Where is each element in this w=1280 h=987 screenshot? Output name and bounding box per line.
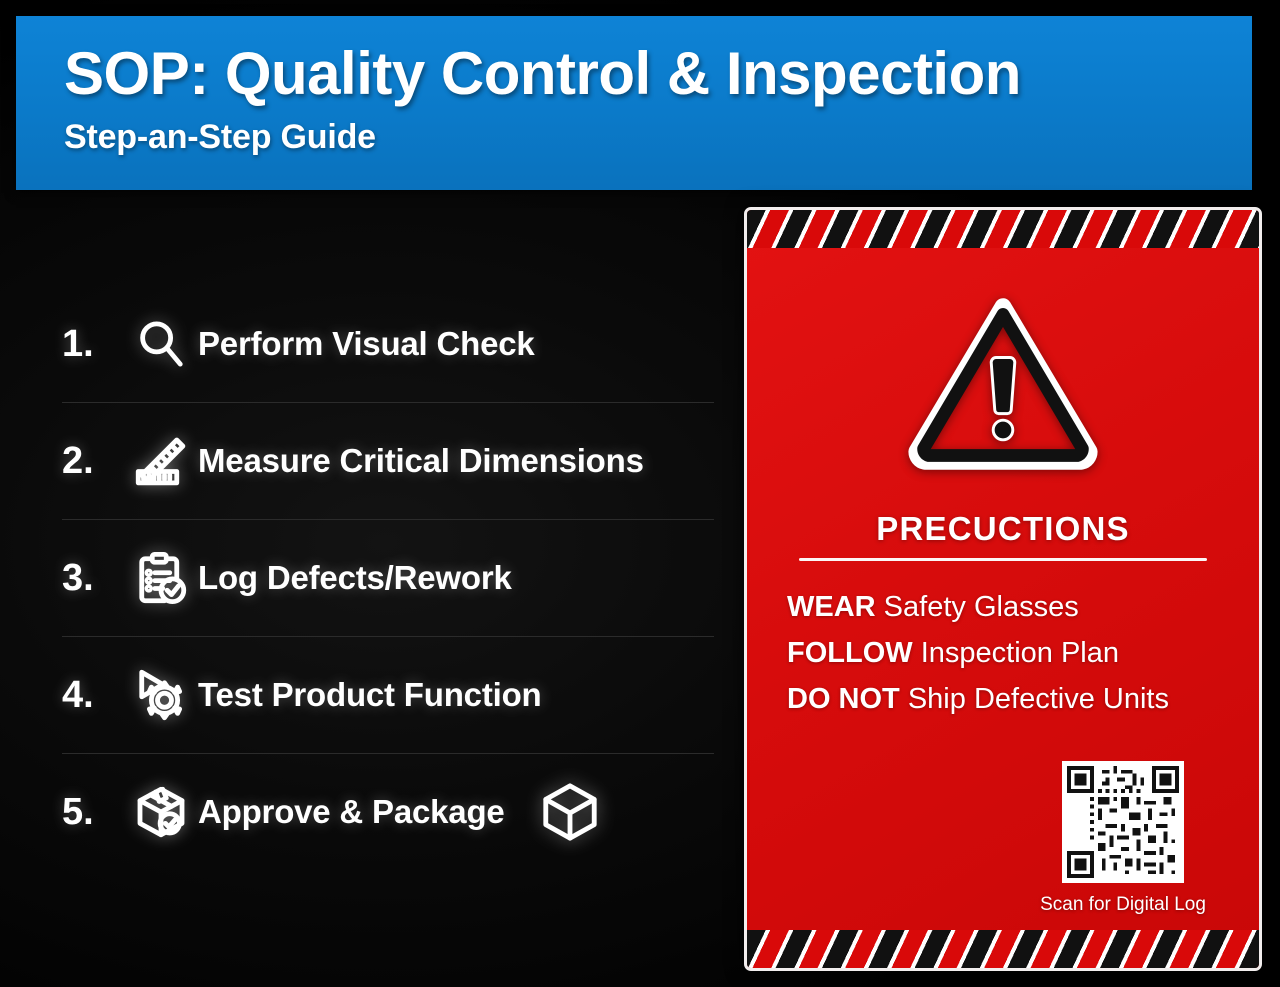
precautions-panel: PRECUCTIONS WEAR Safety Glasses FOLLOW I… <box>744 207 1262 971</box>
hazard-stripe-bottom <box>747 930 1259 968</box>
header-banner: SOP: Quality Control & Inspection Step-a… <box>16 16 1252 190</box>
step-label: Perform Visual Check <box>198 325 535 363</box>
clipboard-check-icon <box>124 550 198 606</box>
step-row[interactable]: 4. Test Product Function <box>62 637 714 754</box>
step-number: 5. <box>62 791 124 834</box>
step-number: 3. <box>62 557 124 600</box>
steps-list: 1. Perform Visual Check 2. <box>62 286 714 870</box>
panel-heading: PRECUCTIONS <box>747 510 1259 548</box>
step-row[interactable]: 3. Log Defects/Rework <box>62 520 714 637</box>
page-subtitle: Step-an-Step Guide <box>64 118 376 157</box>
play-gear-icon <box>124 667 198 723</box>
box-check-icon <box>124 784 198 840</box>
cube-outline-icon <box>539 781 601 843</box>
step-number: 2. <box>62 440 124 483</box>
step-row[interactable]: 2. Measure Critical <box>62 403 714 520</box>
panel-divider <box>799 558 1207 561</box>
precaution-text: Ship Defective Units <box>900 683 1169 715</box>
ruler-icon <box>124 433 198 489</box>
precaution-item: DO NOT Ship Defective Units <box>787 676 1227 722</box>
step-label: Measure Critical Dimensions <box>198 442 644 480</box>
page-title: SOP: Quality Control & Inspection <box>64 42 1021 105</box>
step-number: 1. <box>62 323 124 366</box>
step-number: 4. <box>62 674 124 717</box>
precaution-text: Inspection Plan <box>913 637 1119 669</box>
precaution-item: FOLLOW Inspection Plan <box>787 630 1227 676</box>
precaution-emphasis: WEAR <box>787 591 876 623</box>
precaution-item: WEAR Safety Glasses <box>787 584 1227 630</box>
step-row[interactable]: 1. Perform Visual Check <box>62 286 714 403</box>
precaution-text: Safety Glasses <box>876 591 1079 623</box>
precaution-list: WEAR Safety Glasses FOLLOW Inspection Pl… <box>787 584 1227 722</box>
sop-infographic-poster: SOP: Quality Control & Inspection Step-a… <box>0 0 1280 987</box>
qr-block[interactable]: Scan for Digital Log <box>1029 761 1217 916</box>
step-label: Approve & Package <box>198 793 505 831</box>
step-row[interactable]: 5. Approve & Package <box>62 754 714 870</box>
precaution-emphasis: FOLLOW <box>787 637 913 669</box>
hazard-stripe-top <box>747 210 1259 248</box>
warning-triangle-icon <box>905 292 1101 470</box>
qr-caption: Scan for Digital Log <box>1029 894 1217 916</box>
step-label: Test Product Function <box>198 676 542 714</box>
magnifier-icon <box>124 316 198 372</box>
qr-code-icon[interactable] <box>1062 761 1184 883</box>
step-label: Log Defects/Rework <box>198 559 512 597</box>
precaution-emphasis: DO NOT <box>787 683 900 715</box>
